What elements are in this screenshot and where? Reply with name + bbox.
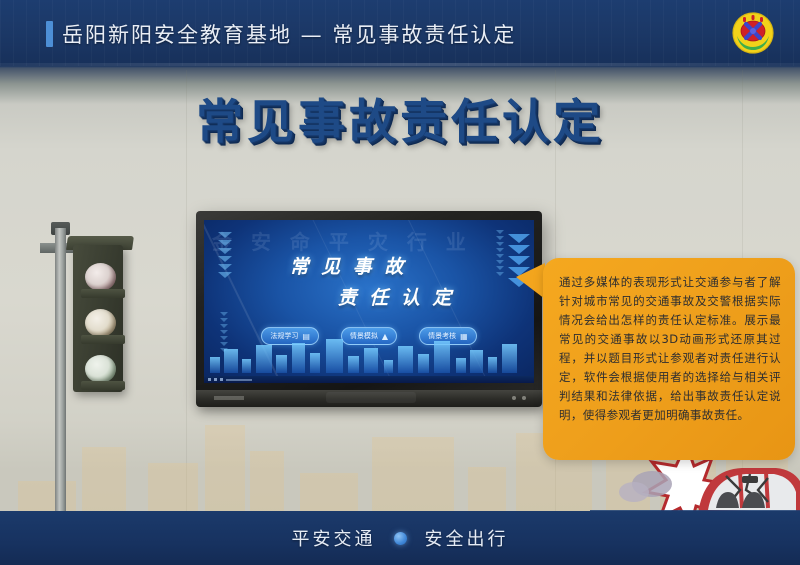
description-callout: 通过多媒体的表现形式让交通参与者了解针对城市常见的交通事故及交警根据实际情况会给…: [543, 258, 795, 460]
header-title: 岳阳新阳安全教育基地 — 常见事故责任认定: [62, 19, 516, 49]
display-monitor: 金 安 命 平 灾 行 业 常 见 事 故 责 任 认 定 法规学习: [196, 211, 542, 397]
monitor-controls[interactable]: [214, 396, 244, 400]
screen-title-line2: 责 任 认 定: [258, 283, 534, 310]
callout-text: 通过多媒体的表现形式让交通参与者了解针对城市常见的交通事故及交警根据实际情况会给…: [559, 273, 781, 425]
footer-separator-dot: [394, 532, 407, 545]
traffic-light-shade-2: [81, 335, 125, 344]
screen-skyline: [204, 331, 534, 373]
page-title: 常见事故责任认定: [0, 83, 800, 152]
callout-pointer: [516, 263, 545, 299]
monitor-screen[interactable]: 金 安 命 平 灾 行 业 常 见 事 故 责 任 认 定 法规学习: [204, 220, 534, 383]
header-bar: 岳阳新阳安全教育基地 — 常见事故责任认定: [0, 0, 800, 66]
traffic-light-red-lamp: [85, 263, 116, 291]
monitor-control-bar: [196, 390, 542, 407]
traffic-light-shade-1: [81, 289, 125, 298]
traffic-light-green-lamp: [85, 355, 116, 383]
traffic-light-shade-3: [81, 381, 125, 390]
monitor-ir-sensor: [512, 396, 516, 400]
monitor-power-led: [522, 396, 526, 400]
traffic-light-yellow-lamp: [85, 309, 116, 337]
traffic-light-housing: [73, 245, 123, 392]
footer-bar: 平安交通 安全出行: [0, 511, 800, 565]
screen-title: 常 见 事 故 责 任 认 定: [204, 252, 534, 310]
footer-left-text: 平安交通: [292, 525, 376, 551]
traffic-police-emblem-icon: [729, 9, 777, 57]
poster-root: 岳阳新阳安全教育基地 — 常见事故责任认定 常见事故责任认定: [0, 0, 800, 565]
screen-taskbar[interactable]: [204, 376, 534, 383]
footer-right-text: 安全出行: [425, 525, 509, 551]
monitor-speaker-grill: [326, 392, 416, 403]
screen-ghost-text: 金 安 命 平 灾 行 业: [212, 226, 526, 255]
header-accent-bar: [46, 21, 53, 47]
screen-title-line1: 常 见 事 故: [204, 252, 492, 279]
